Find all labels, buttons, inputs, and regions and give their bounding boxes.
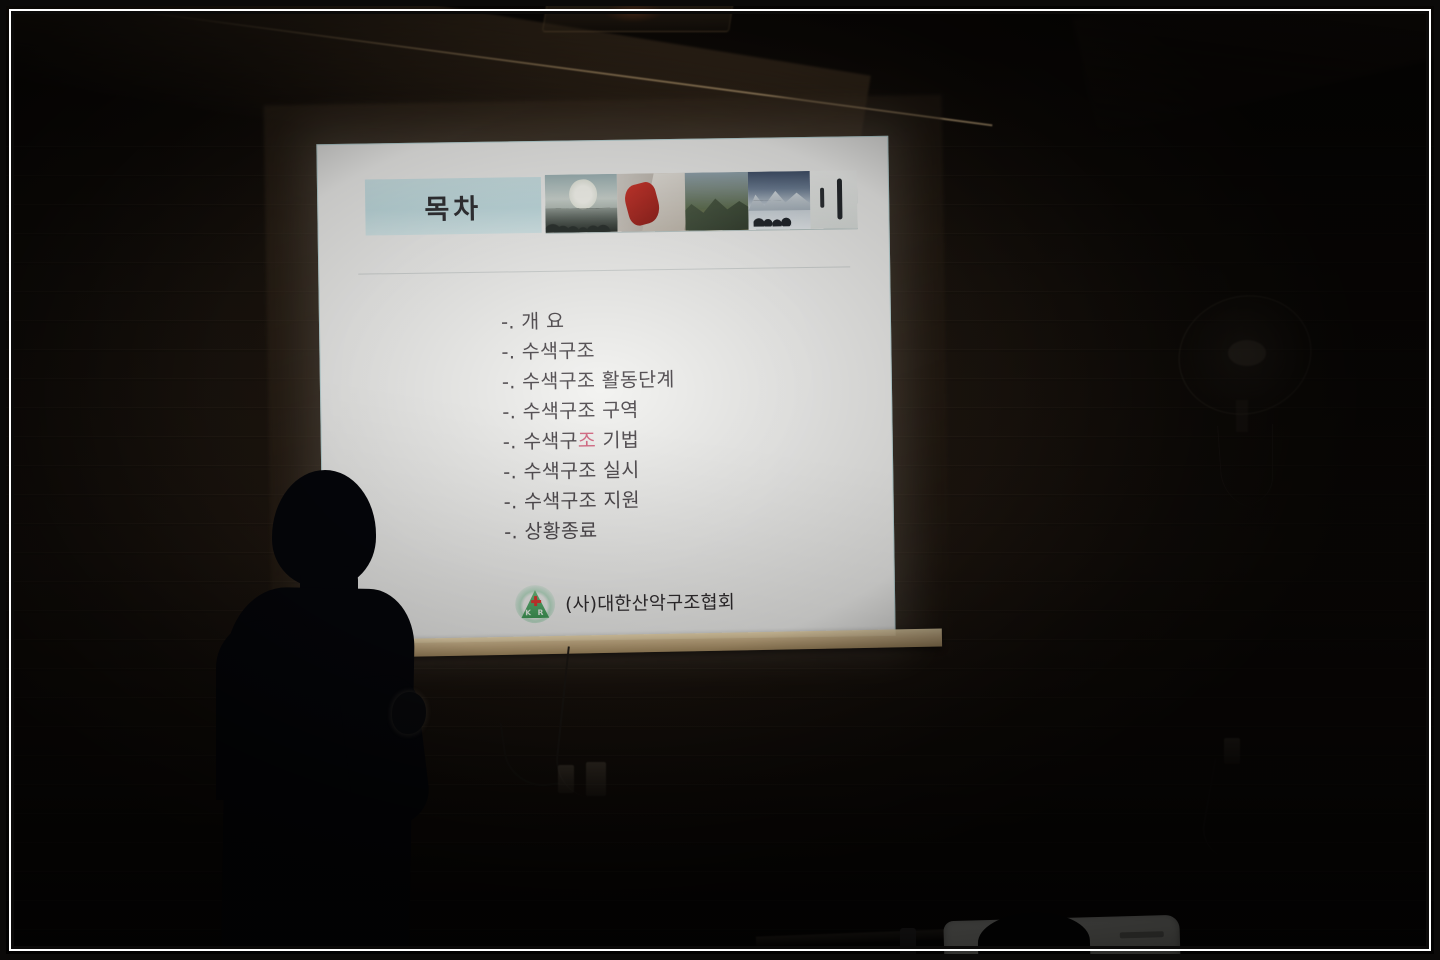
- ceiling-light-bulb: [603, 2, 666, 22]
- bullet-item-3: -. 수색구조 구역: [502, 397, 675, 426]
- wall-outlet-left: [558, 765, 574, 793]
- ridge-shape: [685, 193, 748, 231]
- banner-pane-snow-mountaineers: [748, 171, 811, 230]
- organization-name: (사)대한산악구조협회: [565, 588, 735, 617]
- bullet-item-6: -. 수색구조 지원: [503, 487, 676, 516]
- distant-figure-large: [837, 179, 843, 220]
- presenter-silhouette: [214, 470, 464, 960]
- slide-title: 목차: [424, 186, 482, 226]
- bullet-item-7: -. 상황종료: [504, 517, 677, 546]
- fan-cord-secondary: [1246, 424, 1273, 504]
- logo-initials: K R: [521, 608, 549, 617]
- banner-pane-snowfield: [810, 170, 858, 229]
- mountain-rescue-photo-strip: [545, 170, 858, 233]
- ceiling-right-slope: [1072, 0, 1440, 136]
- banner-pane-mountain-ridge: [685, 172, 748, 231]
- bullet-item-1: -. 수색구조: [501, 337, 674, 366]
- bullet-item-4: -. 수색구조 기법: [503, 427, 676, 456]
- bottle-object: [900, 928, 916, 960]
- slide-header: 목차: [317, 170, 890, 240]
- sun-icon: [569, 179, 597, 210]
- wall-outlet-right: [586, 762, 606, 796]
- slide-bullet-list: -. 개 요 -. 수색구조 -. 수색구조 활동단계 -. 수색구조 구역 -…: [501, 307, 677, 546]
- projector-unit: [943, 915, 1180, 960]
- bullet-item-5: -. 수색구조 실시: [503, 457, 676, 486]
- ceiling-light-fixture: [542, 0, 735, 32]
- fan-hub: [1228, 340, 1266, 366]
- red-cross-icon-bar: [531, 599, 541, 602]
- distant-figure-small: [820, 188, 824, 208]
- banner-pane-rock-climber: [617, 173, 686, 232]
- bullet-item-0: -. 개 요: [501, 307, 674, 336]
- wall-mounted-fan: [1172, 296, 1322, 506]
- korean-alpine-rescue-association-logo: K R: [515, 585, 556, 624]
- climber-silhouettes: [545, 207, 617, 232]
- header-divider: [358, 266, 850, 274]
- highlighted-char: 조: [578, 429, 597, 452]
- presenter-shoulder: [216, 620, 312, 800]
- slide-title-box: 목차: [365, 177, 542, 236]
- slide-footer: K R (사)대한산악구조협회: [515, 582, 735, 623]
- presenter-hand: [392, 692, 426, 734]
- mountaineer-figures: [753, 200, 792, 226]
- bullet-item-2: -. 수색구조 활동단계: [502, 367, 675, 396]
- banner-pane-climbers-at-sunset: [545, 174, 618, 233]
- projector-vent: [1120, 931, 1164, 938]
- photograph: 목차: [0, 0, 1440, 960]
